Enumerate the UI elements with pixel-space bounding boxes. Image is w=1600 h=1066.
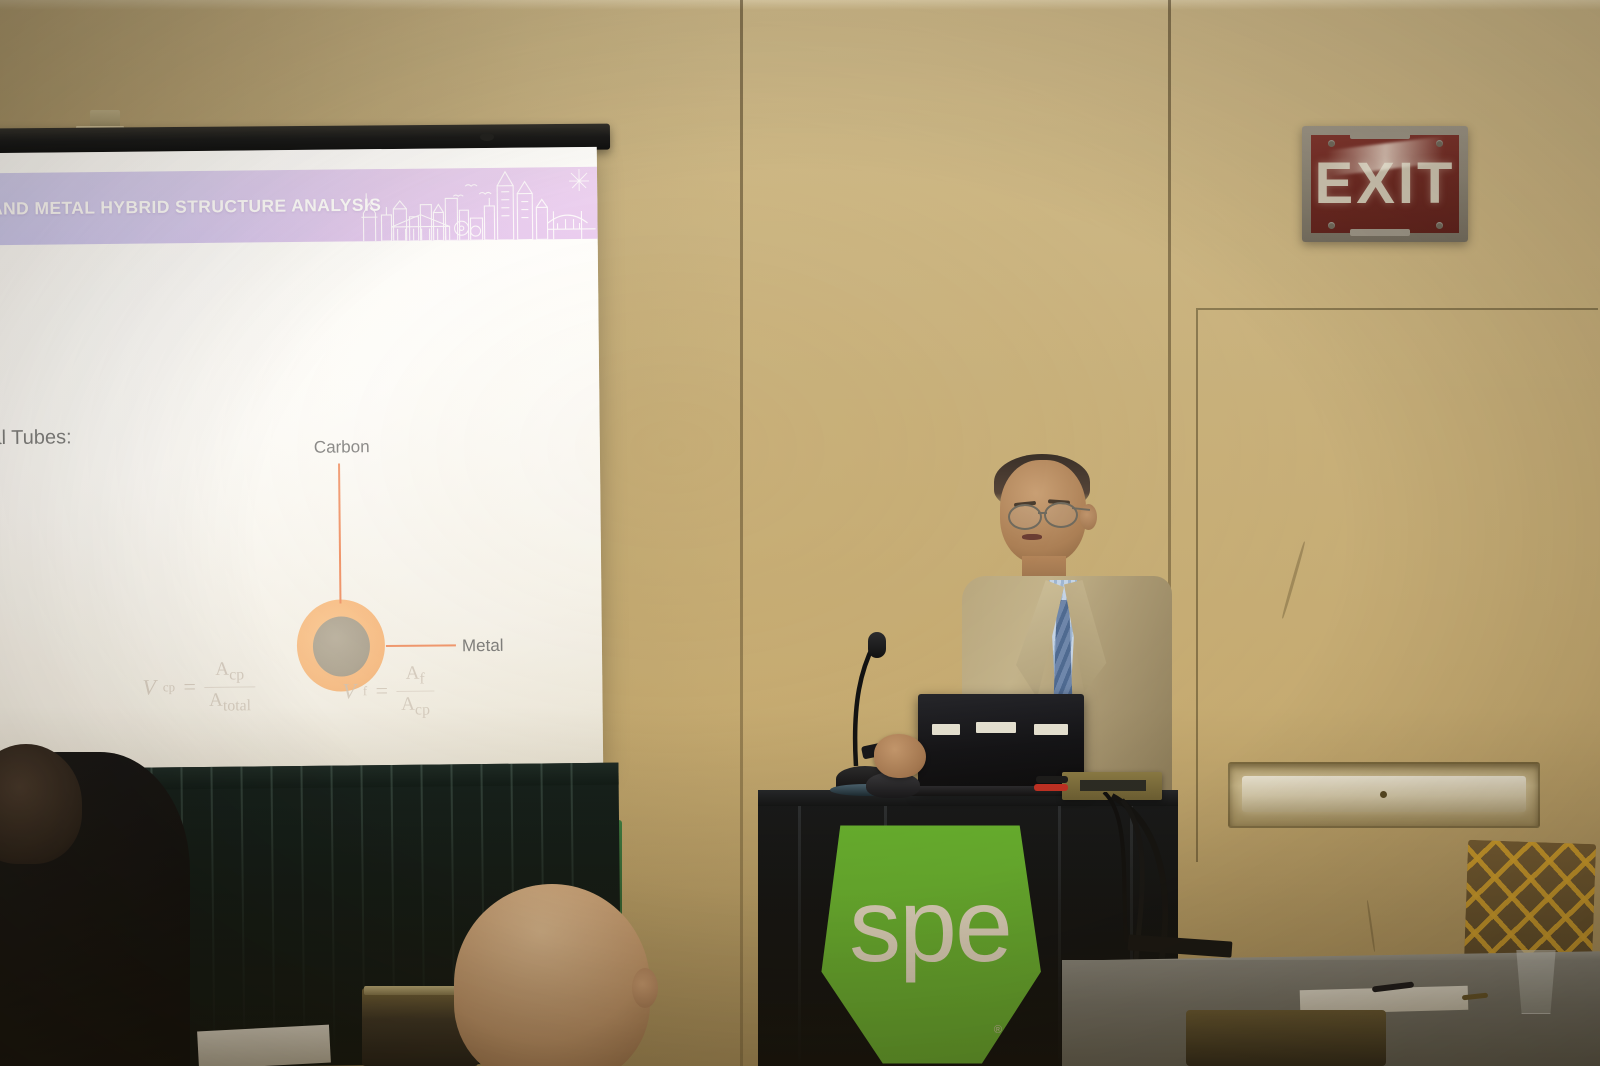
metal-leader-line	[386, 644, 456, 646]
slide-title: E AND METAL HYBRID STRUCTURE ANALYSIS	[0, 195, 381, 220]
slide-body: etal Tubes: Carbon Metal V cp = Acp	[0, 239, 603, 775]
exit-sign-bracket	[1350, 229, 1410, 236]
city-skyline-icon	[357, 167, 598, 242]
formula-vf-bar	[396, 690, 435, 691]
carbon-leader-line	[338, 464, 341, 604]
glasses-bridge	[1038, 512, 1047, 514]
num-base: A	[406, 663, 420, 684]
formula-vcp-lhs-sub: cp	[163, 680, 175, 696]
carbon-label: Carbon	[314, 437, 370, 458]
formula-vf-lhs: V	[342, 679, 356, 705]
microphone-capsule	[868, 632, 886, 658]
formula-vcp-numerator: Acp	[210, 658, 249, 684]
conference-room-photo: EXIT E AND METAL HYBRID STRUCTURE ANALYS…	[0, 0, 1600, 1066]
formula-vf-equals: =	[374, 678, 389, 704]
num-base: A	[215, 659, 229, 680]
glasses-lens-right	[1044, 502, 1078, 528]
exit-sign-screw	[1328, 222, 1335, 229]
num-sub: cp	[229, 666, 244, 683]
formula-vcp-lhs: V	[142, 675, 156, 701]
slide-header-band: E AND METAL HYBRID STRUCTURE ANALYSIS	[0, 167, 598, 245]
formula-vcp-equals: =	[182, 674, 197, 700]
glasses-lens-left	[1008, 504, 1042, 530]
presenter-mouth	[1022, 534, 1042, 540]
formula-vf-numerator: Af	[401, 663, 430, 689]
slide-subtitle: etal Tubes:	[0, 426, 72, 450]
room-floor-shadow	[0, 706, 1600, 1066]
projection-screen: E AND METAL HYBRID STRUCTURE ANALYSIS	[0, 147, 603, 775]
formula-vcp-bar	[204, 686, 256, 688]
screen-roller-knob	[480, 133, 494, 141]
exit-sign-screw	[1328, 140, 1335, 147]
exit-sign-screw	[1436, 222, 1443, 229]
exit-sign-bracket	[1350, 132, 1410, 139]
exit-sign-screw	[1436, 140, 1443, 147]
metal-label: Metal	[462, 636, 504, 656]
num-sub: f	[419, 670, 424, 687]
exit-sign-face: EXIT	[1311, 135, 1459, 233]
formula-vf-lhs-sub: f	[363, 684, 368, 700]
exit-sign: EXIT	[1302, 126, 1468, 242]
